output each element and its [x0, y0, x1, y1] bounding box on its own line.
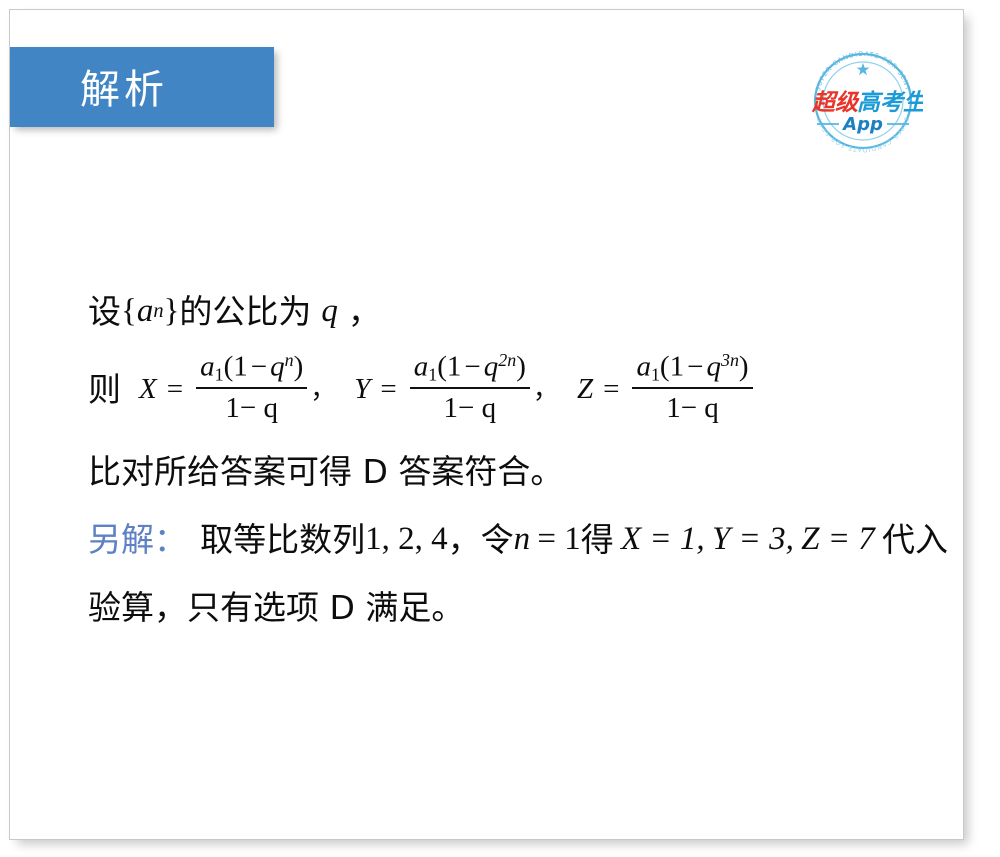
setup-comma: ， [348, 295, 381, 328]
formula-x-fraction: a1(1−qn) 1− q [196, 351, 307, 424]
formula-z-equals: = [603, 375, 619, 404]
num-close: ) [516, 351, 526, 383]
setup-sequence-var: a [137, 295, 154, 328]
formula-x-var: X [139, 375, 157, 404]
app-logo-svg: SUPER CANDIDATE FOR SENT SUPER CANDIDATE… [803, 38, 923, 158]
num-open: (1 [224, 351, 248, 383]
formula-x-denominator: 1− q [196, 387, 307, 423]
formula-y-exponent: 2n [498, 350, 516, 370]
num-coef-subscript: 1 [215, 365, 224, 385]
num-close: ) [294, 351, 304, 383]
setup-prefix: 设 [88, 295, 121, 328]
setup-sequence-subscript: n [153, 301, 163, 321]
setup-brace-open: { [121, 295, 137, 328]
num-coef: a [200, 351, 215, 383]
line-verify: 验算，只有选项 D 满足。 [88, 573, 948, 641]
setup-middle-text: 的公比为 [179, 295, 311, 328]
formula-z-exponent: 3n [721, 350, 739, 370]
formula-y-denominator: 1− q [410, 387, 530, 423]
formula-x-equals: = [167, 375, 183, 404]
num-base: q [270, 351, 285, 383]
logo-brand-blue-label: 高考生 [857, 90, 923, 116]
alt-z-result: Z = 7 [801, 523, 875, 556]
num-close: ) [739, 351, 749, 383]
formula-y-numerator: a1(1−q2n) [410, 351, 530, 387]
alt-text-c: 得 [581, 523, 614, 556]
line-setup: 设 { a n } 的公比为 q ， [88, 280, 948, 342]
alt-text-d: 代入 [882, 523, 948, 556]
formula-lead: 则 [88, 373, 121, 406]
num-minus: − [251, 351, 267, 383]
num-coef: a [636, 351, 651, 383]
logo-brand-red-label: 超级 [811, 90, 860, 116]
section-title-label: 解析 [80, 57, 168, 115]
formula-y-equals: = [380, 375, 396, 404]
formula-comma-1: ， [310, 377, 336, 403]
num-coef-subscript: 1 [428, 365, 437, 385]
alt-n-var: n [514, 523, 531, 556]
formula-x-numerator: a1(1−qn) [196, 351, 307, 387]
logo-star-icon [857, 63, 870, 75]
setup-brace-close: } [164, 295, 180, 328]
verify-text: 验算，只有选项 D 满足。 [88, 591, 464, 624]
num-base: q [706, 351, 721, 383]
formula-x-exponent: n [285, 350, 294, 370]
alt-text-a: 取等比数列 [200, 523, 365, 556]
num-base: q [484, 351, 499, 383]
alt-n-equals: = 1 [537, 523, 580, 556]
slide-page: 解析 SUPER CANDIDATE FOR SENT SUPER CANDID… [9, 9, 964, 840]
formula-y-fraction: a1(1−q2n) 1− q [410, 351, 530, 424]
compare-text: 比对所给答案可得 D 答案符合。 [88, 455, 563, 488]
formula-z-fraction: a1(1−q3n) 1− q [632, 351, 752, 424]
alt-x-result: X = 1, [621, 523, 705, 556]
alt-y-result: Y = 3, [712, 523, 794, 556]
num-open: (1 [660, 351, 684, 383]
num-open: (1 [437, 351, 461, 383]
solution-content: 设 { a n } 的公比为 q ， 则 X = a1(1−qn) 1− q [88, 280, 948, 641]
alt-solution-label: 另解： [88, 523, 187, 556]
formula-z-denominator: 1− q [632, 387, 752, 423]
line-compare: 比对所给答案可得 D 答案符合。 [88, 437, 948, 505]
formula-z-var: Z [577, 375, 593, 404]
formula-comma-2: ， [533, 377, 559, 403]
formula-y-var: Y [354, 375, 370, 404]
num-coef: a [414, 351, 429, 383]
num-minus: − [464, 351, 480, 383]
setup-ratio-var: q [321, 295, 338, 328]
app-logo-badge: SUPER CANDIDATE FOR SENT SUPER CANDIDATE… [803, 38, 923, 158]
num-coef-subscript: 1 [651, 365, 660, 385]
num-minus: − [687, 351, 703, 383]
formula-z-numerator: a1(1−q3n) [632, 351, 752, 387]
logo-app-label: App [841, 114, 883, 135]
line-alternate-solution: 另解： 取等比数列 1, 2, 4 ，令 n = 1 得 X = 1, Y = … [88, 505, 948, 573]
alt-sequence-values: 1, 2, 4 [365, 523, 448, 556]
alt-text-b: ，令 [448, 523, 514, 556]
line-formulas: 则 X = a1(1−qn) 1− q ， Y = a1(1−q2n) [88, 342, 948, 437]
section-title-banner: 解析 [10, 47, 274, 127]
